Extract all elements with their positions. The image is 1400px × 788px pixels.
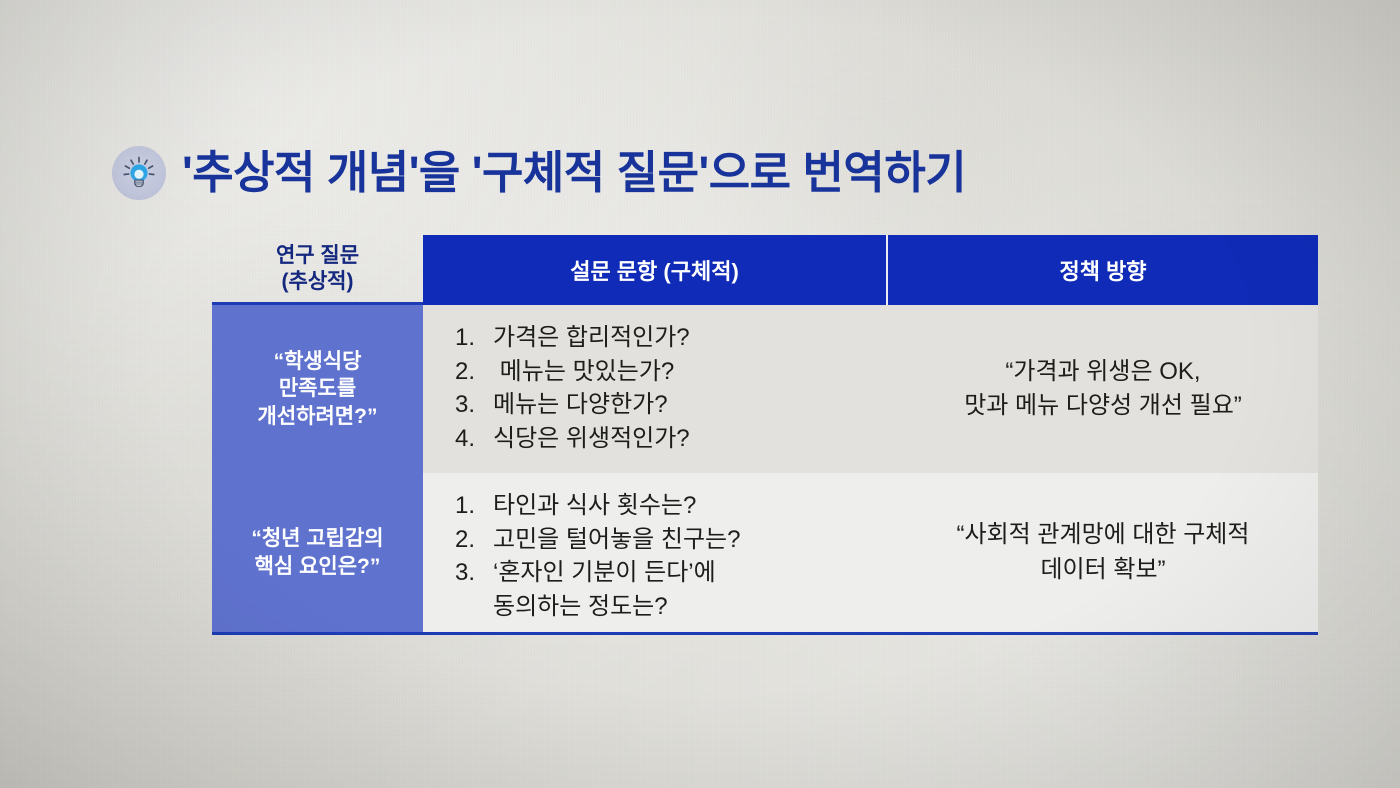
list-item-text: ‘혼자인 기분이 든다’에 동의하는 정도는? [493, 556, 878, 623]
survey-item-list: 1. 가격은 합리적인가? 2. 메뉴는 맛있는가? 3. 메뉴는 다양한가? [455, 321, 878, 455]
table-row: 1. 타인과 식사 횟수는? 2. 고민을 털어놓을 친구는? 3. ‘혼자인 … [423, 473, 1318, 632]
table-cell-abstract-question: “청년 고립감의 핵심 요인은?” [212, 473, 423, 632]
list-item-text: 식당은 위생적인가? [493, 422, 878, 456]
list-item: 3. 메뉴는 다양한가? [455, 388, 878, 422]
survey-item-list: 1. 타인과 식사 횟수는? 2. 고민을 털어놓을 친구는? 3. ‘혼자인 … [455, 489, 878, 623]
list-item: 3. ‘혼자인 기분이 든다’에 동의하는 정도는? [455, 556, 878, 623]
table-cell-survey-items: 1. 가격은 합리적인가? 2. 메뉴는 맛있는가? 3. 메뉴는 다양한가? [423, 305, 888, 473]
list-item-number: 2. [455, 523, 493, 557]
slide-title-row: '추상적 개념'을 '구체적 질문'으로 번역하기 [112, 146, 966, 200]
list-item: 1. 타인과 식사 횟수는? [455, 489, 878, 523]
list-item-number: 3. [455, 556, 493, 623]
list-item-text: 고민을 털어놓을 친구는? [493, 523, 878, 557]
list-item-number: 2. [455, 355, 493, 389]
table-cell-policy-direction: “사회적 관계망에 대한 구체적 데이터 확보” [888, 473, 1318, 632]
list-item: 1. 가격은 합리적인가? [455, 321, 878, 355]
comparison-table: 연구 질문 (추상적) 설문 문항 (구체적) 정책 방향 “학생식당 만족도를… [212, 235, 1318, 635]
column-header-survey-items: 설문 문항 (구체적) [423, 235, 888, 305]
abstract-question-column: “학생식당 만족도를 개선하려면?” “청년 고립감의 핵심 요인은?” [212, 305, 423, 632]
list-item-text: 메뉴는 맛있는가? [493, 355, 878, 389]
list-item-text: 메뉴는 다양한가? [493, 388, 878, 422]
list-item-number: 1. [455, 321, 493, 355]
page-title: '추상적 개념'을 '구체적 질문'으로 번역하기 [182, 149, 966, 196]
table-cell-survey-items: 1. 타인과 식사 횟수는? 2. 고민을 털어놓을 친구는? 3. ‘혼자인 … [423, 473, 888, 632]
column-header-research-question-line1: 연구 질문 [276, 243, 359, 269]
list-item: 2. 메뉴는 맛있는가? [455, 355, 878, 389]
list-item-number: 1. [455, 489, 493, 523]
table-cell-abstract-question: “학생식당 만족도를 개선하려면?” [212, 305, 423, 473]
table-body: “학생식당 만족도를 개선하려면?” “청년 고립감의 핵심 요인은?” 1. … [212, 305, 1318, 635]
table-row: 1. 가격은 합리적인가? 2. 메뉴는 맛있는가? 3. 메뉴는 다양한가? [423, 305, 1318, 473]
lightbulb-icon [112, 146, 166, 200]
list-item-text: 가격은 합리적인가? [493, 321, 878, 355]
column-header-policy-direction: 정책 방향 [888, 235, 1318, 305]
list-item: 4. 식당은 위생적인가? [455, 422, 878, 456]
table-rows-container: 1. 가격은 합리적인가? 2. 메뉴는 맛있는가? 3. 메뉴는 다양한가? [423, 305, 1318, 632]
list-item-number: 4. [455, 422, 493, 456]
column-header-research-question-line2: (추상적) [282, 269, 354, 295]
table-header-row: 연구 질문 (추상적) 설문 문항 (구체적) 정책 방향 [212, 235, 1318, 305]
table-cell-policy-direction: “가격과 위생은 OK, 맛과 메뉴 다양성 개선 필요” [888, 305, 1318, 473]
column-header-research-question: 연구 질문 (추상적) [212, 235, 423, 305]
slide-canvas: '추상적 개념'을 '구체적 질문'으로 번역하기 연구 질문 (추상적) 설문… [0, 0, 1400, 788]
list-item: 2. 고민을 털어놓을 친구는? [455, 523, 878, 557]
list-item-number: 3. [455, 388, 493, 422]
list-item-text: 타인과 식사 횟수는? [493, 489, 878, 523]
